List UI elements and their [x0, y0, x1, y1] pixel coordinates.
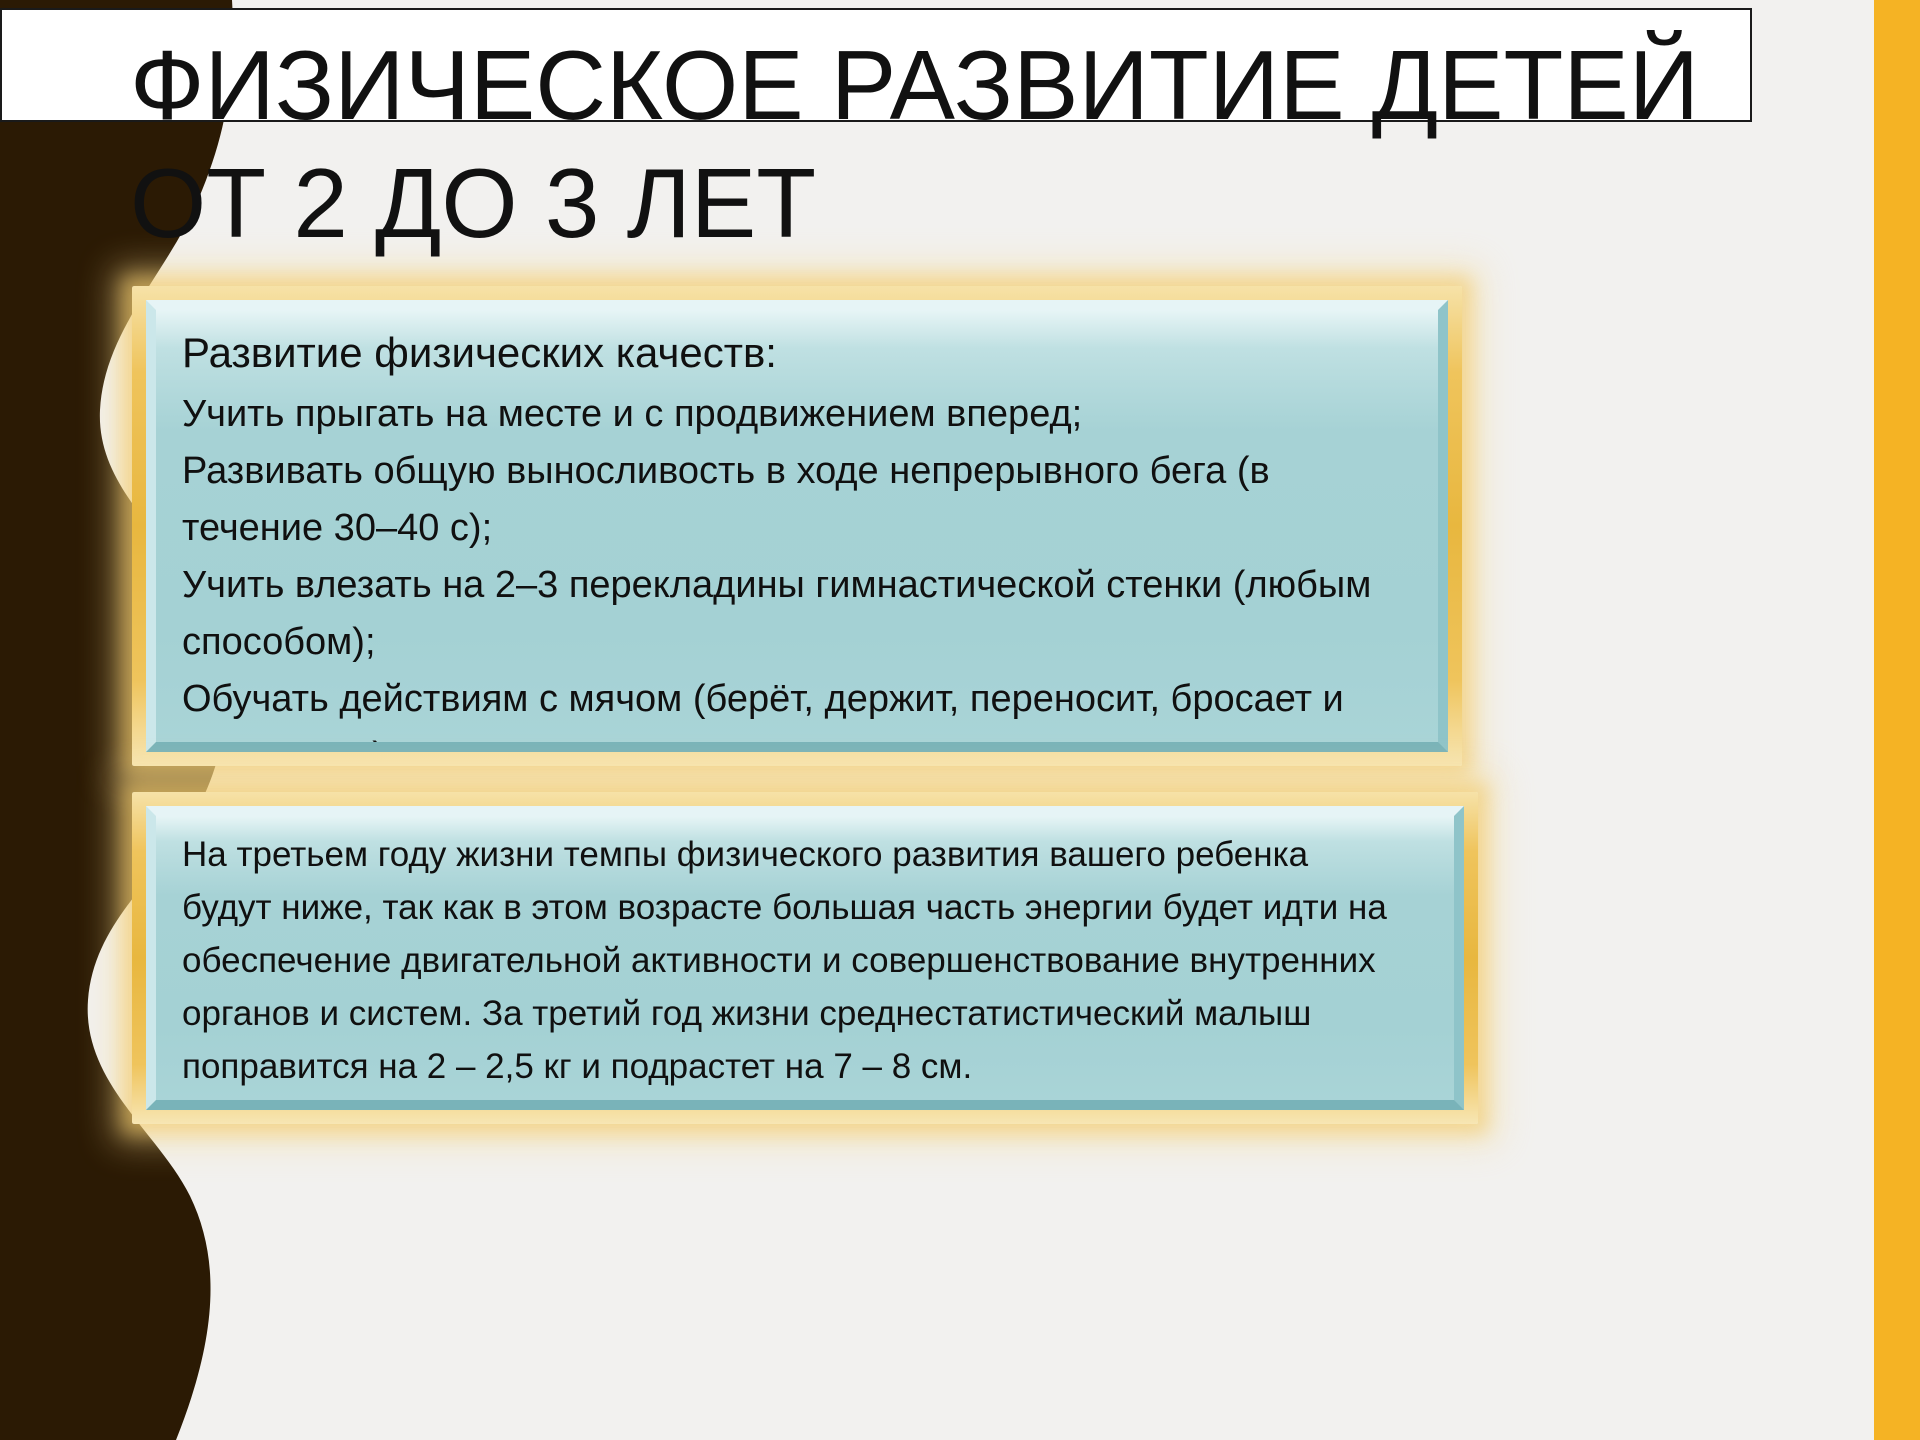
- qualities-line: Учить прыгать на месте и с продвижением …: [182, 386, 1418, 443]
- page-title-text: ФИЗИЧЕСКОЕ РАЗВИТИЕ ДЕТЕЙ ОТ 2 ДО 3 ЛЕТ: [130, 26, 1750, 262]
- qualities-heading: Развитие физических качеств:: [182, 322, 1418, 384]
- qualities-line: Учить влезать на 2–3 перекладины гимнаст…: [182, 557, 1418, 614]
- growth-note-content: На третьем году жизни темпы физического …: [182, 828, 1434, 1093]
- note-line: будут ниже, так как в этом возрасте боль…: [182, 881, 1434, 934]
- qualities-line: Обучать действиям с мячом (берёт, держит…: [182, 671, 1418, 728]
- physical-qualities-content: Развитие физических качеств: Учить прыга…: [182, 322, 1418, 742]
- slide-canvas: ФИЗИЧЕСКОЕ РАЗВИТИЕ ДЕТЕЙ ОТ 2 ДО 3 ЛЕТ …: [0, 0, 1920, 1440]
- right-amber-stripe: [1874, 0, 1920, 1440]
- note-line: органов и систем. За третий год жизни ср…: [182, 987, 1434, 1040]
- card-surface: Развитие физических качеств: Учить прыга…: [156, 310, 1438, 742]
- note-line: поправится на 2 – 2,5 кг и подрастет на …: [182, 1040, 1434, 1093]
- page-title: ФИЗИЧЕСКОЕ РАЗВИТИЕ ДЕТЕЙ ОТ 2 ДО 3 ЛЕТ: [130, 26, 1750, 262]
- qualities-line: течение 30–40 с);: [182, 500, 1418, 557]
- card-surface: На третьем году жизни темпы физического …: [156, 816, 1454, 1100]
- note-line: обеспечение двигательной активности и со…: [182, 934, 1434, 987]
- qualities-line: Развивать общую выносливость в ходе непр…: [182, 443, 1418, 500]
- qualities-line: способом);: [182, 614, 1418, 671]
- qualities-line: катает мяч): [182, 728, 1418, 742]
- growth-note-card: На третьем году жизни темпы физического …: [132, 792, 1478, 1124]
- note-line: На третьем году жизни темпы физического …: [182, 828, 1434, 881]
- physical-qualities-card: Развитие физических качеств: Учить прыга…: [132, 286, 1462, 766]
